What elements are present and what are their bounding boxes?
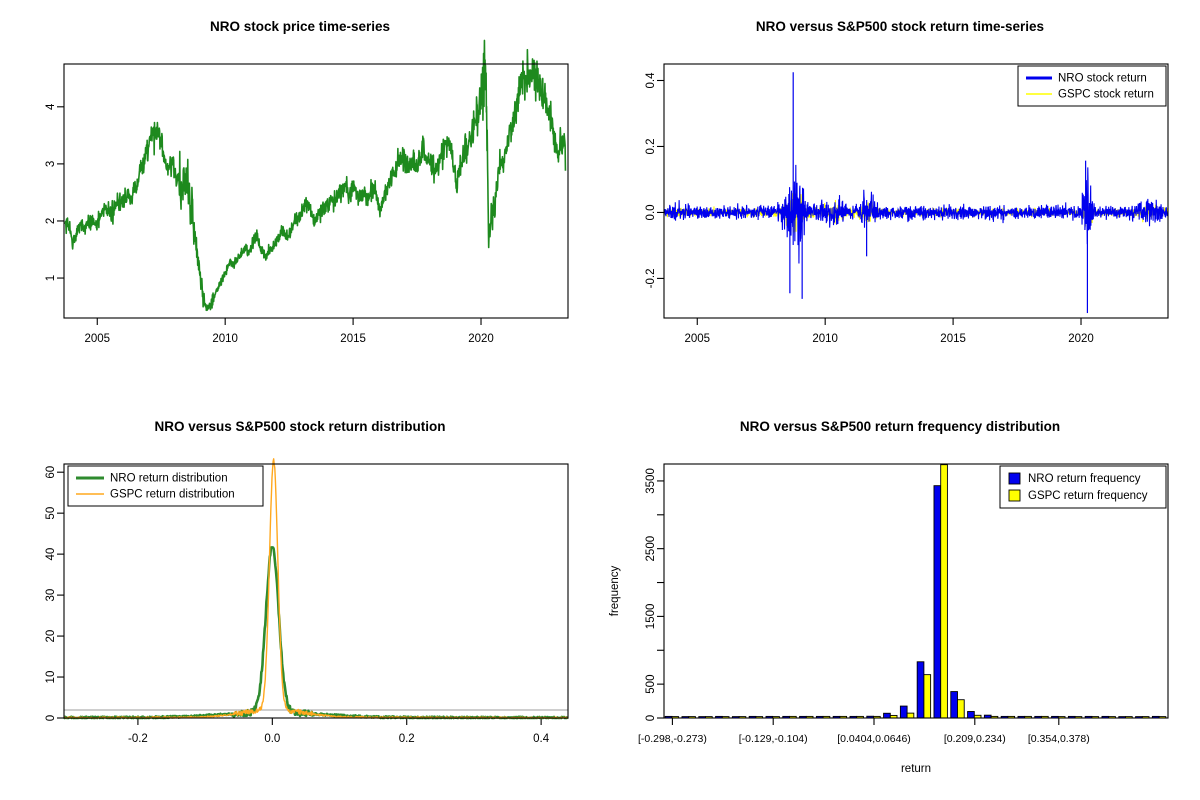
- histogram-bar: [884, 713, 891, 718]
- price-chart-title: NRO stock price time-series: [210, 19, 390, 34]
- histogram-bar: [941, 465, 948, 718]
- nro-density-curve: [64, 547, 568, 718]
- y-tick-label: 0: [645, 715, 657, 721]
- y-tick-label: 3500: [645, 468, 657, 494]
- density-chart-title: NRO versus S&P500 stock return distribut…: [154, 419, 445, 434]
- y-tick-label: 2: [45, 218, 57, 224]
- legend-label-gspc-density: GSPC return distribution: [110, 489, 235, 501]
- legend-swatch-gspc-frequency-icon: [1009, 490, 1020, 501]
- y-tick-label: -0.2: [645, 269, 657, 289]
- x-tick-label: 0.2: [399, 733, 415, 745]
- return-chart-svg: NRO versus S&P500 stock return time-seri…: [600, 0, 1200, 400]
- panel-return-timeseries: NRO versus S&P500 stock return time-seri…: [600, 0, 1200, 400]
- legend-label-nro-frequency: NRO return frequency: [1028, 473, 1141, 485]
- histogram-bar: [934, 486, 941, 718]
- x-tick-label: 0.4: [533, 733, 550, 745]
- x-tick-label: [0.209,0.234): [944, 733, 1006, 745]
- panel-return-frequency: NRO versus S&P500 return frequency distr…: [600, 400, 1200, 800]
- x-tick-label: 0.0: [264, 733, 280, 745]
- histogram-chart-title: NRO versus S&P500 return frequency distr…: [740, 419, 1060, 434]
- y-tick-label: 0.2: [645, 138, 657, 154]
- price-series-line: [65, 40, 565, 310]
- y-tick-label: 0.4: [645, 72, 657, 89]
- histogram-bar: [924, 675, 931, 718]
- y-tick-label: 30: [45, 589, 57, 602]
- histogram-axes: [-0.298,-0.273)[-0.129,-0.104)[0.0404,0.…: [638, 468, 1090, 745]
- y-tick-label: 20: [45, 630, 57, 643]
- x-tick-label: [-0.298,-0.273): [638, 733, 707, 745]
- y-tick-label: 1500: [645, 604, 657, 630]
- y-tick-label: 1: [45, 275, 57, 281]
- x-tick-label: 2015: [340, 333, 366, 345]
- plot-grid: NRO stock price time-series 200520102015…: [0, 0, 1200, 800]
- density-axes: -0.20.00.20.40102030405060: [45, 466, 550, 745]
- histogram-bar: [907, 713, 914, 718]
- x-tick-label: 2015: [940, 333, 966, 345]
- legend-label-gspc-return: GSPC stock return: [1058, 89, 1154, 101]
- return-legend: NRO stock return GSPC stock return: [1018, 66, 1166, 106]
- price-chart-svg: NRO stock price time-series 200520102015…: [0, 0, 600, 400]
- y-tick-label: 500: [645, 675, 657, 694]
- histogram-chart-svg: NRO versus S&P500 return frequency distr…: [600, 400, 1200, 800]
- x-tick-label: 2005: [684, 333, 710, 345]
- y-tick-label: 50: [45, 507, 57, 520]
- y-tick-label: 0.0: [645, 204, 657, 220]
- histogram-bar: [951, 692, 958, 718]
- legend-label-gspc-frequency: GSPC return frequency: [1028, 490, 1148, 502]
- histogram-ylabel: frequency: [609, 566, 621, 617]
- histogram-bar: [900, 706, 907, 718]
- y-tick-label: 3: [45, 161, 57, 167]
- x-tick-label: -0.2: [128, 733, 148, 745]
- histogram-bar: [958, 700, 965, 718]
- return-chart-title: NRO versus S&P500 stock return time-seri…: [756, 19, 1044, 34]
- x-tick-label: 2010: [212, 333, 238, 345]
- legend-swatch-nro-frequency-icon: [1009, 473, 1020, 484]
- x-tick-label: 2005: [84, 333, 110, 345]
- x-tick-label: [0.0404,0.0646): [837, 733, 911, 745]
- nro-return-series: [664, 72, 1168, 313]
- legend-label-nro-density: NRO return distribution: [110, 473, 228, 485]
- panel-price-timeseries: NRO stock price time-series 200520102015…: [0, 0, 600, 400]
- x-tick-label: [0.354,0.378): [1028, 733, 1090, 745]
- y-tick-label: 60: [45, 466, 57, 479]
- histogram-legend: NRO return frequency GSPC return frequen…: [1000, 466, 1166, 508]
- price-plot-box: [64, 64, 568, 318]
- histogram-bar: [968, 712, 975, 719]
- y-tick-label: 0: [45, 715, 57, 721]
- density-legend: NRO return distribution GSPC return dist…: [68, 466, 263, 506]
- x-tick-label: [-0.129,-0.104): [739, 733, 808, 745]
- x-tick-label: 2020: [1068, 333, 1094, 345]
- histogram-xlabel: return: [901, 763, 931, 775]
- y-tick-label: 2500: [645, 536, 657, 562]
- x-tick-label: 2010: [812, 333, 838, 345]
- panel-return-density: NRO versus S&P500 stock return distribut…: [0, 400, 600, 800]
- legend-label-nro-return: NRO stock return: [1058, 73, 1147, 85]
- y-tick-label: 10: [45, 671, 57, 684]
- y-tick-label: 40: [45, 548, 57, 561]
- y-tick-label: 4: [45, 103, 57, 110]
- histogram-bar: [917, 662, 924, 718]
- density-chart-svg: NRO versus S&P500 stock return distribut…: [0, 400, 600, 800]
- x-tick-label: 2020: [468, 333, 494, 345]
